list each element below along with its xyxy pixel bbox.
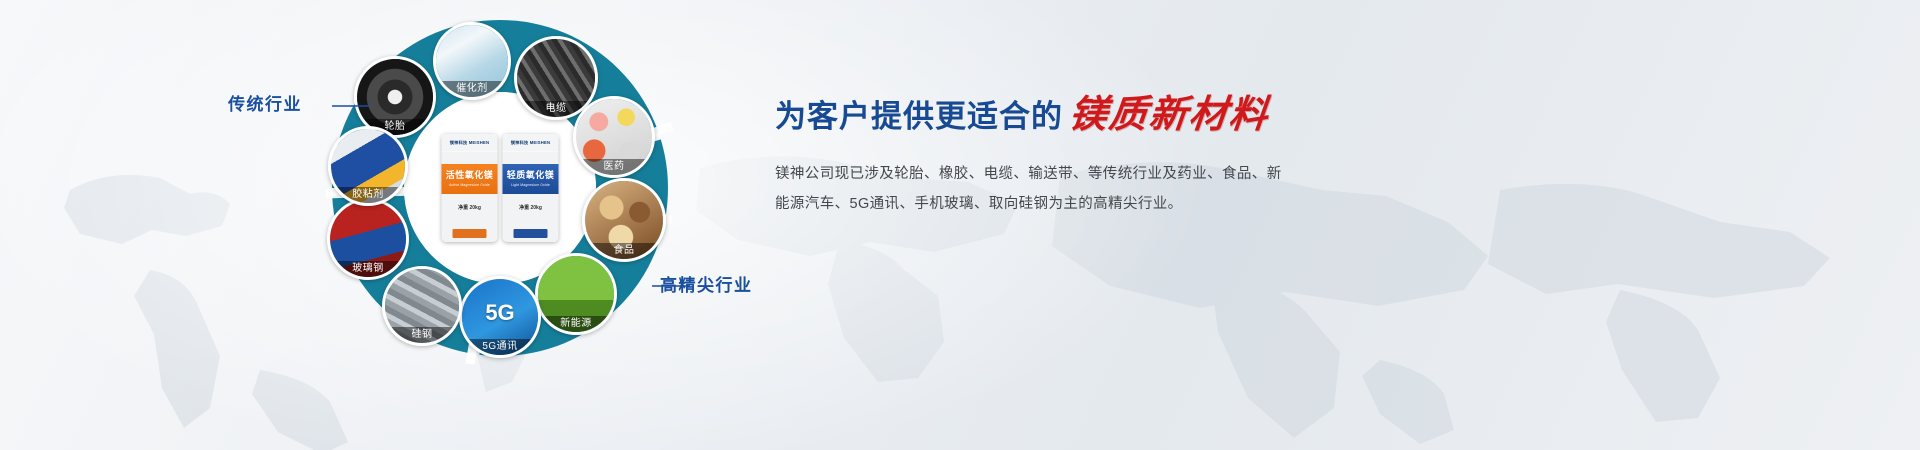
bag-product-name: 活性氧化镁 [446,171,494,181]
bag-net-weight: 净重 20kg [503,204,559,211]
industry-bubble-4[interactable]: 食品 [582,178,666,262]
label-traditional-industry: 传统行业 [228,90,302,115]
industry-wheel-infographic: 镁神科技 MEISHEN 活性氧化镁 Active Magnesium Oxid… [320,8,760,448]
bag-footer-strip [503,229,559,238]
industry-bubble-label: 医药 [576,159,652,175]
industry-bubble-3[interactable]: 医药 [573,96,655,178]
hero-banner: 镁神科技 MEISHEN 活性氧化镁 Active Magnesium Oxid… [0,0,1920,450]
industry-bubble-8[interactable]: 玻璃钢 [327,198,409,280]
bag-name-band: 活性氧化镁 Active Magnesium Oxide [442,164,498,194]
bag-product-name-en: Light Magnesium Oxide [511,183,550,187]
industry-bubble-5[interactable]: 新能源 [535,253,617,335]
bag-brand-label: 镁神科技 MEISHEN [511,140,550,145]
product-bag-active-magnesium-oxide: 镁神科技 MEISHEN 活性氧化镁 Active Magnesium Oxid… [442,134,498,242]
hero-paragraph: 镁神公司现已涉及轮胎、橡胶、电缆、输送带、等传统行业及药业、食品、新能源汽车、5… [775,160,1285,219]
label-hightech-industry: 高精尖行业 [660,271,753,296]
product-bag-pair: 镁神科技 MEISHEN 活性氧化镁 Active Magnesium Oxid… [442,134,559,242]
industry-bubble-1[interactable]: 催化剂 [433,22,511,100]
industry-bubble-9[interactable]: 胶粘剂 [328,126,408,206]
industry-bubble-6[interactable]: 5G5G通讯 [459,276,541,358]
hero-copy-block: 为客户提供更适合的 镁质新材料 镁神公司现已涉及轮胎、橡胶、电缆、输送带、等传统… [775,96,1315,219]
bag-product-name: 轻质氧化镁 [507,171,555,181]
headline-primary: 为客户提供更适合的 [775,101,1063,132]
product-bag-light-magnesium-oxide: 镁神科技 MEISHEN 轻质氧化镁 Light Magnesium Oxide… [503,134,559,242]
bag-name-band: 轻质氧化镁 Light Magnesium Oxide [503,164,559,194]
teal-ring: 镁神科技 MEISHEN 活性氧化镁 Active Magnesium Oxid… [320,8,680,368]
industry-bubble-label: 新能源 [538,316,614,332]
bag-footer-strip [442,229,498,238]
industry-bubble-label: 5G通讯 [462,339,538,355]
bag-product-name-en: Active Magnesium Oxide [449,183,490,187]
headline: 为客户提供更适合的 镁质新材料 [775,96,1315,134]
center-product-disc: 镁神科技 MEISHEN 活性氧化镁 Active Magnesium Oxid… [408,96,592,280]
industry-bubble-label: 胶粘剂 [331,187,405,203]
bag-net-weight: 净重 20kg [442,204,498,211]
industry-bubble-label: 硅钢 [385,327,459,343]
bag-brand-label: 镁神科技 MEISHEN [450,140,489,145]
industry-bubble-7[interactable]: 硅钢 [382,266,462,346]
industry-bubble-label: 玻璃钢 [330,261,406,277]
headline-accent: 镁质新材料 [1067,96,1271,134]
industry-bubble-label: 催化剂 [436,81,508,97]
